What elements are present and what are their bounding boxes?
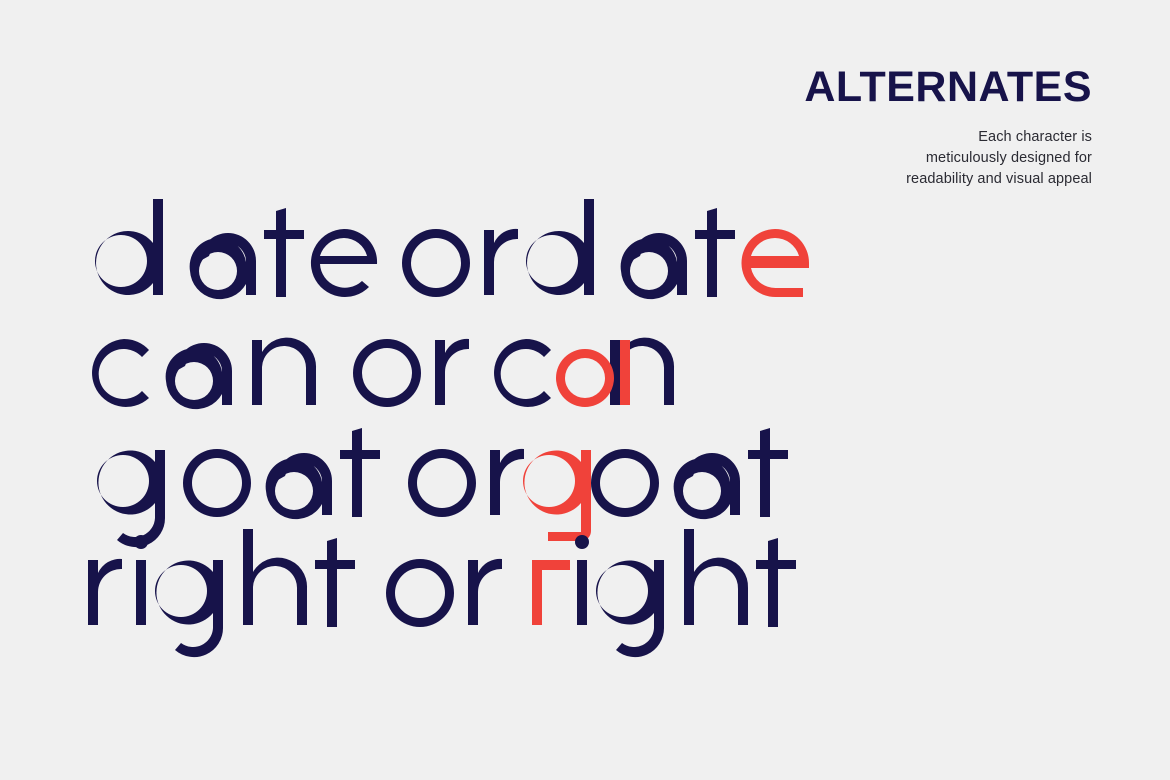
specimen-row-goat bbox=[80, 434, 780, 544]
glyph-alternate-g bbox=[523, 450, 591, 541]
specimen-row-can bbox=[80, 324, 780, 434]
glyph-group-default-right bbox=[88, 529, 796, 657]
header-block: ALTERNATES Each character is meticulousl… bbox=[672, 66, 1092, 190]
specimen-canvas: ALTERNATES Each character is meticulousl… bbox=[0, 0, 1170, 780]
glyph-alternate-r bbox=[532, 560, 570, 625]
specimen-text-right bbox=[80, 529, 740, 654]
specimen-text-mirror: date or date can or can goat or goat rig… bbox=[0, 0, 1, 1]
glyph-group-default-date bbox=[95, 199, 735, 299]
mirror-row-1: date or date bbox=[0, 0, 1, 1]
specimen-text-can bbox=[80, 309, 720, 434]
header-description-line-3: readability and visual appeal bbox=[672, 169, 1092, 190]
specimen-row-right bbox=[80, 544, 780, 654]
glyph-alternate-e bbox=[741, 229, 809, 297]
header-description: Each character is meticulously designed … bbox=[672, 127, 1092, 190]
specimen-row-date bbox=[80, 214, 780, 324]
specimen-text-goat bbox=[80, 419, 740, 544]
specimen-text-date bbox=[80, 199, 720, 324]
header-description-line-1: Each character is bbox=[672, 127, 1092, 148]
page-title: ALTERNATES bbox=[672, 66, 1092, 109]
specimen-list bbox=[80, 214, 780, 654]
header-description-line-2: meticulously designed for bbox=[672, 148, 1092, 169]
